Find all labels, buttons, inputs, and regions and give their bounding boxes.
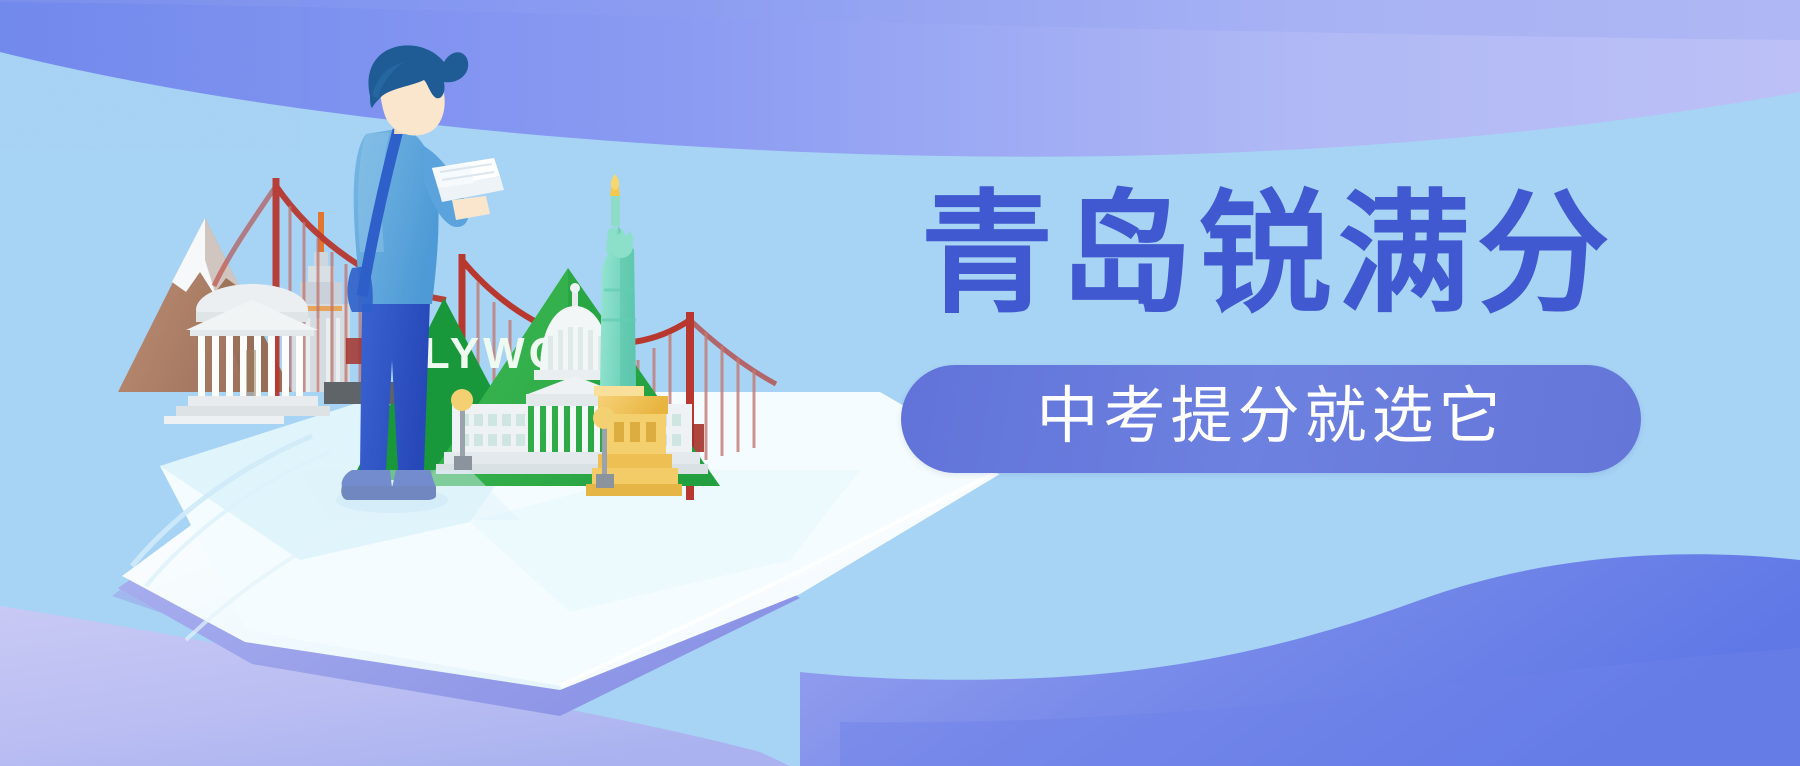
promo-banner: LLYWO (0, 0, 1800, 766)
subtitle-text: 中考提分就选它 (1036, 386, 1505, 452)
subtitle-pill[interactable]: 中考提分就选它 (901, 365, 1641, 473)
headline-title: 青岛锐满分 (845, 180, 1691, 330)
banner-text-block: 青岛锐满分 中考提分就选它 (845, 180, 1705, 510)
